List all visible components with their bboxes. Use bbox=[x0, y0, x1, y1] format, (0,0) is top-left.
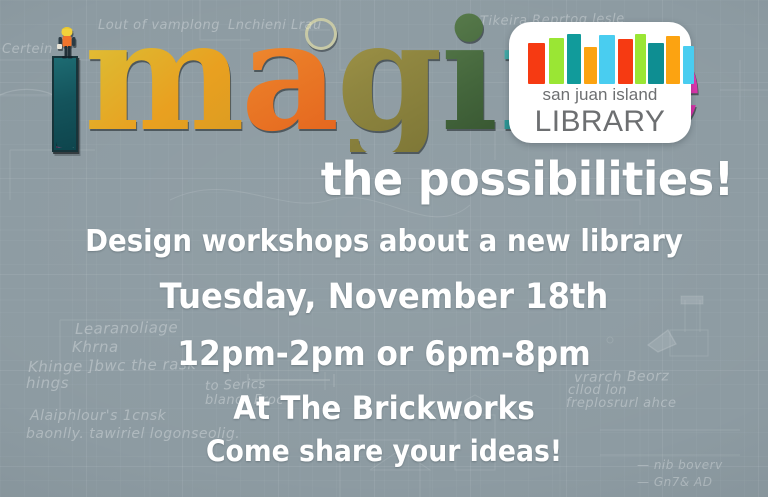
logo-text-san-juan-island: san juan island bbox=[509, 86, 691, 103]
book-spine-8 bbox=[648, 43, 664, 84]
library-logo-card[interactable]: san juan island LIBRARY bbox=[509, 22, 691, 143]
book-spine-1 bbox=[528, 43, 545, 84]
person-figure-icon bbox=[51, 24, 83, 60]
headline-the-possibilities: the possibilities! bbox=[321, 152, 734, 206]
book-spines-icon bbox=[528, 34, 674, 84]
letter-m-glyph: m bbox=[84, 0, 245, 152]
letter-i-teal bbox=[52, 56, 78, 152]
book-spine-7 bbox=[635, 34, 646, 84]
line-event-time: 12pm-2pm or 6pm-8pm bbox=[31, 334, 738, 374]
letter-m-yellow: m bbox=[84, 0, 245, 152]
line-event-date: Tuesday, November 18th bbox=[31, 277, 738, 317]
book-spine-2 bbox=[549, 38, 564, 84]
book-spine-6 bbox=[618, 39, 633, 84]
book-spine-10 bbox=[683, 46, 694, 84]
letter-i-glyph: i bbox=[441, 0, 499, 152]
letter-g-olive: g bbox=[336, 0, 442, 152]
book-spine-5 bbox=[599, 35, 615, 84]
book-spine-9 bbox=[666, 36, 680, 84]
line-event-venue: At The Brickworks bbox=[31, 389, 738, 427]
line-call-to-action: Come share your ideas! bbox=[31, 434, 738, 468]
gold-coin-icon bbox=[305, 18, 337, 50]
library-logo-wordmark: san juan island LIBRARY bbox=[509, 86, 691, 138]
logo-text-library: LIBRARY bbox=[509, 106, 691, 138]
poster-canvas: LearanoliageKhrnaKhinge ]bwc the raskhin… bbox=[0, 0, 768, 497]
book-spine-3 bbox=[567, 34, 581, 84]
line-design-workshops: Design workshops about a new library bbox=[31, 224, 738, 259]
letter-i-green: i bbox=[441, 0, 499, 152]
book-spine-4 bbox=[584, 47, 597, 84]
letter-g-glyph: g bbox=[336, 0, 442, 152]
